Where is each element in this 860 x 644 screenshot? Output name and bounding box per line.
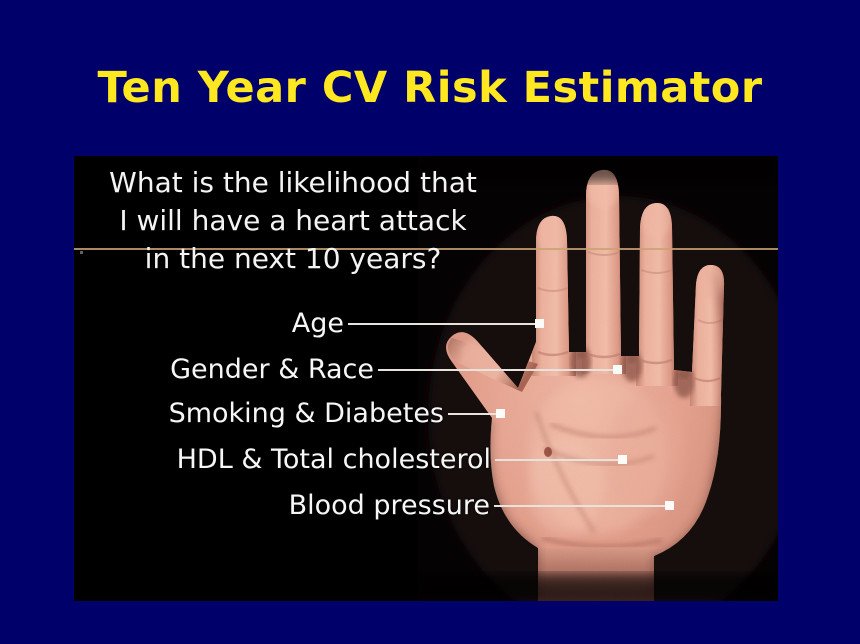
question-line-2: I will have a heart attack xyxy=(88,202,498,240)
risk-factor-row-gender-race: Gender & Race xyxy=(74,353,374,387)
risk-factor-label: HDL & Total cholesterol xyxy=(177,443,491,477)
callout-marker-smoking-diabetes xyxy=(496,409,505,418)
callout-marker-blood-pressure xyxy=(665,501,674,510)
page-title: Ten Year CV Risk Estimator xyxy=(0,62,860,114)
risk-factor-row-hdl-cholesterol: HDL & Total cholesterol xyxy=(74,443,491,477)
content-panel: What is the likelihood that I will have … xyxy=(74,156,778,601)
risk-factor-row-age: Age xyxy=(74,307,344,341)
callout-line-blood-pressure xyxy=(494,505,674,507)
risk-factor-row-blood-pressure: Blood pressure xyxy=(74,489,490,523)
risk-factor-label: Gender & Race xyxy=(170,353,374,387)
risk-factor-label: Smoking & Diabetes xyxy=(169,397,444,431)
image-speck xyxy=(80,251,83,254)
callout-marker-age xyxy=(535,319,544,328)
risk-factor-label: Blood pressure xyxy=(289,489,490,523)
callout-line-gender-race xyxy=(378,369,622,371)
question-line-3: in the next 10 years? xyxy=(88,240,498,278)
callout-line-hdl-cholesterol xyxy=(495,459,627,461)
callout-marker-gender-race xyxy=(613,365,622,374)
question-line-1: What is the likelihood that xyxy=(88,164,498,202)
callout-line-age xyxy=(348,323,544,325)
slide: Ten Year CV Risk Estimator xyxy=(0,0,860,644)
risk-factor-label: Age xyxy=(292,307,344,341)
callout-marker-hdl-cholesterol xyxy=(618,455,627,464)
question-text: What is the likelihood that I will have … xyxy=(88,164,498,278)
risk-factor-row-smoking-diabetes: Smoking & Diabetes xyxy=(74,397,444,431)
callout-line-smoking-diabetes xyxy=(448,413,505,415)
